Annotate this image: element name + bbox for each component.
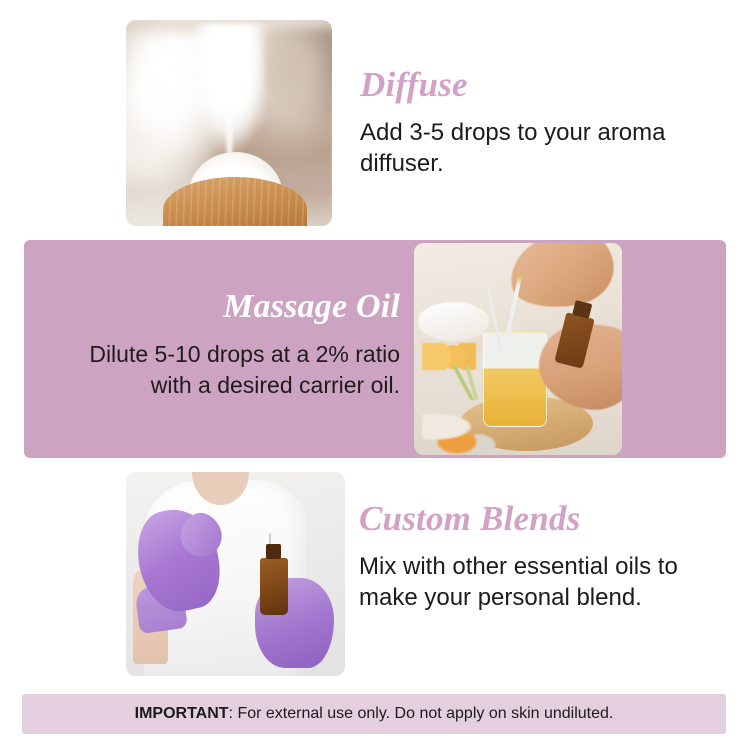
diffuse-text-block: Diffuse Add 3-5 drops to your aroma diff… — [360, 66, 690, 180]
gloves-amber-bottle — [260, 558, 288, 615]
massage-oil-text-block: Massage Oil Dilute 5-10 drops at a 2% ra… — [44, 288, 400, 400]
massage-lemongrass — [439, 366, 489, 400]
massage-oil-photo — [414, 243, 622, 455]
important-note-text: For external use only. Do not apply on s… — [237, 705, 613, 722]
massage-oil-photo-layers — [414, 243, 622, 455]
custom-blends-photo — [126, 472, 345, 676]
important-note-bar: IMPORTANT: For external use only. Do not… — [22, 694, 726, 734]
infographic-page: Diffuse Add 3-5 drops to your aroma diff… — [0, 0, 750, 750]
massage-oil-body: Dilute 5-10 drops at a 2% ratio with a d… — [44, 339, 400, 400]
diffuser-photo-layers — [126, 20, 332, 226]
diffuse-heading: Diffuse — [360, 66, 690, 105]
custom-blends-heading: Custom Blends — [359, 500, 699, 539]
custom-blends-body: Mix with other essential oils to make yo… — [359, 551, 699, 614]
diffuser-photo — [126, 20, 332, 226]
diffuse-body: Add 3-5 drops to your aroma diffuser. — [360, 117, 690, 180]
custom-blends-photo-layers — [126, 472, 345, 676]
important-note-line: IMPORTANT: For external use only. Do not… — [135, 705, 614, 723]
massage-plate — [418, 302, 489, 340]
massage-foreground-items — [422, 408, 514, 455]
important-note-label: IMPORTANT — [135, 705, 229, 722]
custom-blends-text-block: Custom Blends Mix with other essential o… — [359, 500, 699, 614]
massage-oil-heading: Massage Oil — [44, 288, 400, 325]
